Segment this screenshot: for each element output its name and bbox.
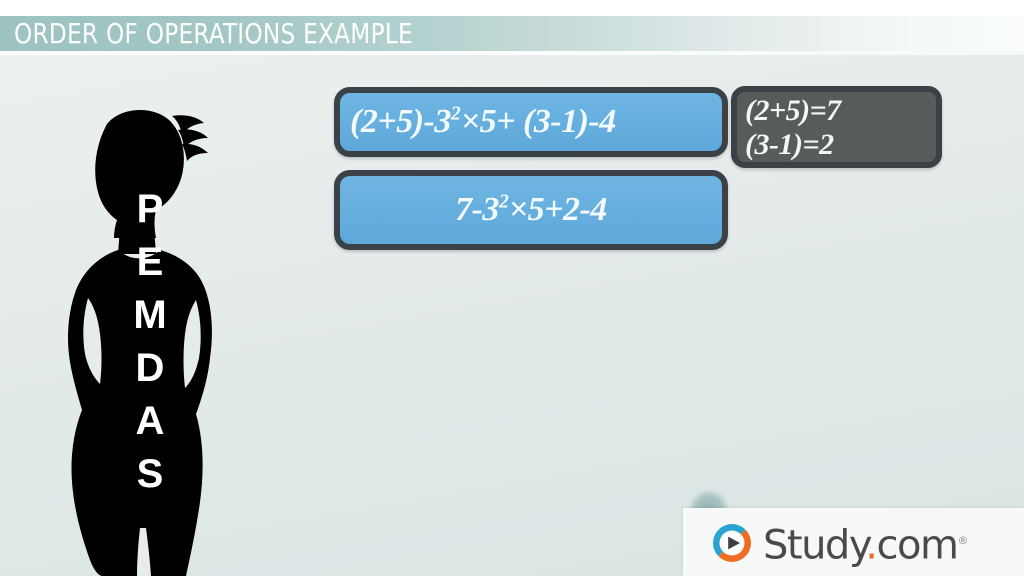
page-title: ORDER OF OPERATIONS EXAMPLE — [14, 16, 413, 51]
girl-silhouette — [44, 58, 254, 576]
equation-step-2-suffix: ×5+2-4 — [509, 191, 607, 228]
logo-text-com: com — [877, 522, 958, 568]
equation-step-1-exponent: 2 — [451, 103, 461, 125]
parentheses-note-box: (2+5)=7 (3-1)=2 — [731, 86, 942, 168]
equation-step-2-text: 7-32×5+2-4 — [455, 191, 607, 229]
logo-text-study: Study — [763, 522, 865, 568]
equation-step-1-text: (2+5)-32×5+ (3-1)-4 — [350, 103, 616, 141]
slide-canvas: ORDER OF OPERATIONS EXAMPLE — [0, 0, 1024, 576]
study-logo: Study.com® — [710, 519, 968, 567]
equation-step-2-exponent: 2 — [499, 191, 509, 213]
equation-step-2-box: 7-32×5+2-4 — [334, 170, 728, 250]
top-white-strip — [0, 0, 1024, 16]
note-line-2: (3-1)=2 — [745, 128, 936, 162]
logo-text-dot: . — [865, 522, 876, 568]
study-logo-wordmark: Study.com® — [763, 519, 968, 567]
equation-step-1-suffix: ×5+ (3-1)-4 — [461, 103, 616, 140]
equation-step-1-box: (2+5)-32×5+ (3-1)-4 — [334, 87, 728, 157]
note-line-1: (2+5)=7 — [745, 94, 936, 128]
study-logo-band: Study.com® — [683, 508, 1024, 576]
play-circle-icon — [710, 521, 754, 565]
equation-step-2-prefix: 7-3 — [455, 191, 499, 228]
registered-trademark-mark: ® — [957, 534, 968, 547]
equation-step-1-prefix: (2+5)-3 — [350, 103, 451, 140]
title-underline — [0, 51, 1024, 55]
